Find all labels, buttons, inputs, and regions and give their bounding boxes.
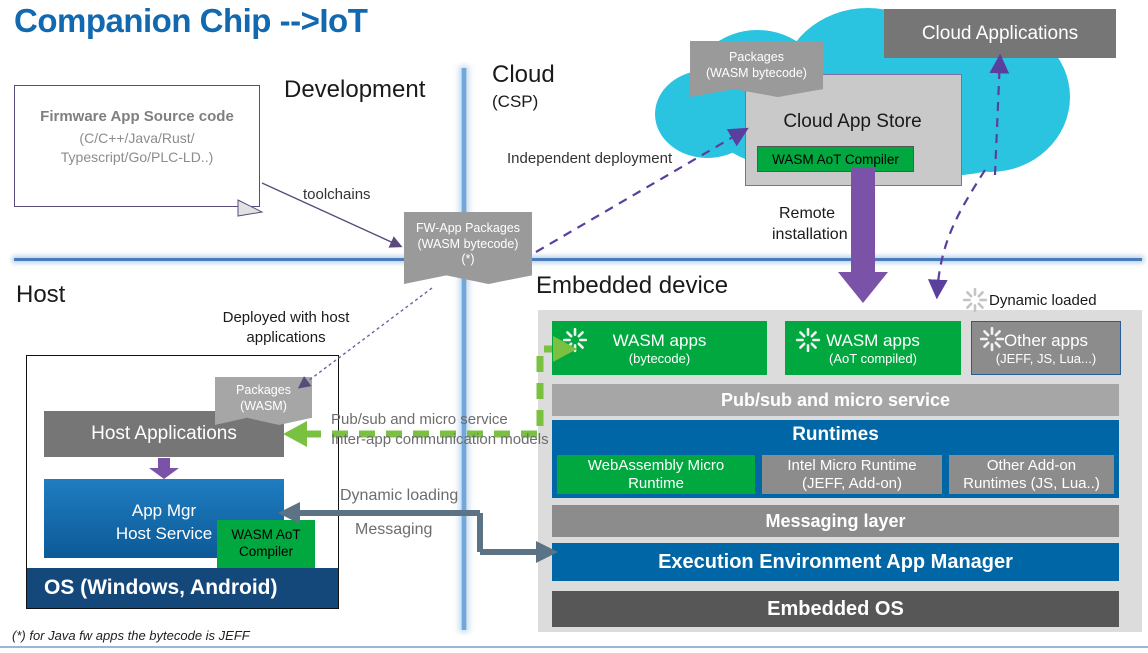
label-deployed-with-host: Deployed with host applications <box>196 308 376 349</box>
runtime-0-line1: WebAssembly Micro <box>588 457 724 474</box>
runtime-1-line2: (JEFF, Add-on) <box>802 475 902 492</box>
embedded-exec-env-label: Execution Environment App Manager <box>658 551 1013 574</box>
page-title: Companion Chip -->IoT <box>14 2 367 40</box>
firmware-source-line2: Typescript/Go/PLC-LD..) <box>15 148 259 167</box>
host-down-arrow <box>149 458 179 479</box>
label-remote-line2: installation <box>772 225 842 246</box>
host-wasm-aot-compiler: WASM AoT Compiler <box>217 520 315 568</box>
firmware-source-line1: (C/C++/Java/Rust/ <box>15 129 259 148</box>
host-aot-line2: Compiler <box>239 544 293 561</box>
spinner-icon-legend <box>962 287 988 313</box>
host-applications-label: Host Applications <box>91 423 237 445</box>
label-independent-deployment: Independent deployment <box>507 150 672 167</box>
spinner-icon-app2 <box>979 326 1005 352</box>
callout-fw-line2: (WASM bytecode) <box>404 237 532 253</box>
firmware-source-heading: Firmware App Source code <box>15 108 259 125</box>
embedded-app-2-sub: (JEFF, JS, Lua...) <box>996 351 1096 366</box>
embedded-app-2-name: Other apps <box>1004 331 1088 351</box>
footnote: (*) for Java fw apps the bytecode is JEF… <box>12 628 250 643</box>
dynamic-loaded-legend-label: Dynamic loaded <box>989 292 1097 309</box>
label-messaging: Messaging <box>355 521 432 539</box>
embedded-messaging-label: Messaging layer <box>765 511 905 532</box>
label-toolchains: toolchains <box>303 186 371 203</box>
embedded-os-label: Embedded OS <box>767 598 904 621</box>
embedded-pubsub-bar: Pub/sub and micro service <box>552 384 1119 416</box>
host-aot-line1: WASM AoT <box>231 527 300 544</box>
heading-cloud-sub: (CSP) <box>492 92 538 112</box>
cloud-applications-box: Cloud Applications <box>884 9 1116 58</box>
embedded-messaging-layer: Messaging layer <box>552 505 1119 537</box>
spinner-icon-app0 <box>562 327 588 353</box>
callout-cloud-packages-line2: (WASM bytecode) <box>690 66 823 82</box>
callout-cloud-packages-line1: Packages <box>690 50 823 66</box>
callout-host-packages-line2: (WASM) <box>215 399 312 415</box>
heading-host: Host <box>16 281 65 309</box>
spinner-icon-app1 <box>795 327 821 353</box>
embedded-app-1-name: WASM apps <box>826 331 920 351</box>
cloud-wasm-aot-compiler: WASM AoT Compiler <box>757 146 914 172</box>
label-deployed-line1: Deployed with host <box>196 308 376 328</box>
cloud-app-store-label: Cloud App Store <box>745 108 960 136</box>
runtime-1-line1: Intel Micro Runtime <box>787 457 916 474</box>
heading-cloud: Cloud <box>492 61 555 89</box>
label-remote-line1: Remote <box>772 204 842 225</box>
runtime-2-line2: Runtimes (JS, Lua..) <box>963 475 1100 492</box>
heading-development: Development <box>284 76 425 104</box>
embedded-exec-env: Execution Environment App Manager <box>552 543 1119 581</box>
embedded-pubsub-label: Pub/sub and micro service <box>721 390 950 411</box>
heading-embedded: Embedded device <box>536 272 728 300</box>
divider-vertical <box>461 68 467 630</box>
label-deployed-line2: applications <box>196 328 376 348</box>
firmware-source-box: Firmware App Source code (C/C++/Java/Rus… <box>14 85 260 207</box>
callout-fw-line3: (*) <box>404 252 532 268</box>
runtime-box-0: WebAssembly Micro Runtime <box>557 455 755 494</box>
divider-bottom <box>0 646 1148 648</box>
label-dynamic-loading: Dynamic loading <box>340 487 458 505</box>
embedded-app-0-name: WASM apps <box>613 331 707 351</box>
label-pubsub-models-1: Pub/sub and micro service <box>331 411 508 428</box>
callout-fw-line1: FW-App Packages <box>404 221 532 237</box>
runtime-2-line1: Other Add-on <box>987 457 1076 474</box>
runtime-box-2: Other Add-on Runtimes (JS, Lua..) <box>949 455 1114 494</box>
host-os-label: OS (Windows, Android) <box>44 576 278 600</box>
divider-top <box>14 258 1142 261</box>
embedded-app-1-sub: (AoT compiled) <box>829 351 917 366</box>
callout-host-packages: Packages (WASM) <box>215 377 312 425</box>
callout-fw-app-packages: FW-App Packages (WASM bytecode) (*) <box>404 212 532 284</box>
label-remote-installation: Remote installation <box>772 204 842 246</box>
embedded-os-bar: Embedded OS <box>552 591 1119 627</box>
cloud-applications-label: Cloud Applications <box>922 23 1078 45</box>
callout-host-packages-line1: Packages <box>215 383 312 399</box>
embedded-runtimes-title: Runtimes <box>552 421 1119 449</box>
embedded-app-0-sub: (bytecode) <box>629 351 690 366</box>
runtime-0-line2: Runtime <box>628 475 684 492</box>
runtime-box-1: Intel Micro Runtime (JEFF, Add-on) <box>762 455 942 494</box>
callout-cloud-packages: Packages (WASM bytecode) <box>690 41 823 97</box>
label-pubsub-models-2: Inter-app communication models <box>331 431 549 448</box>
